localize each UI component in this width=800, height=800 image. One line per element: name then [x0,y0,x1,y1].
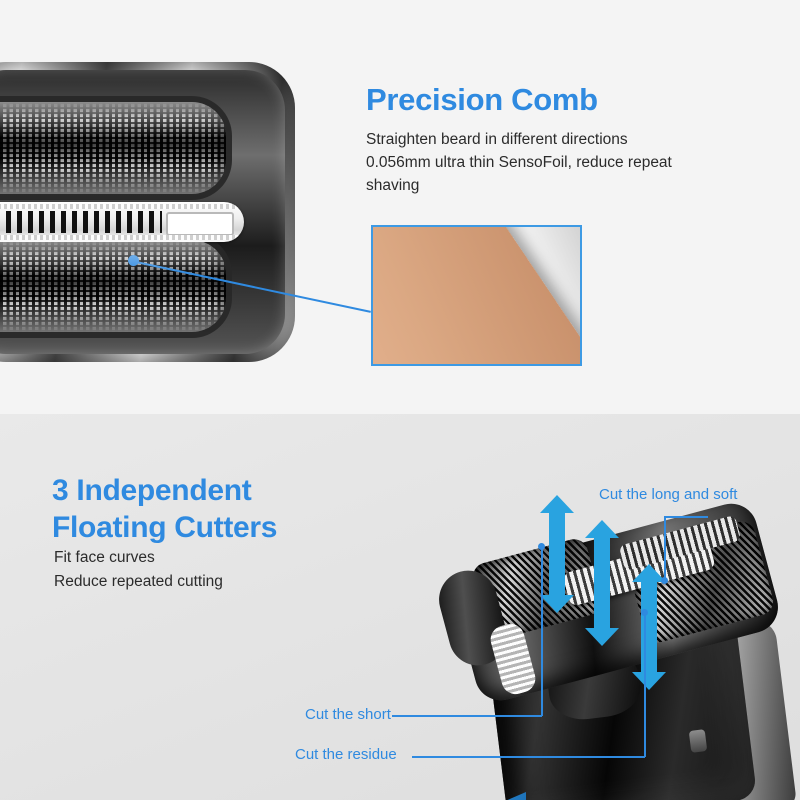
callout-label-short: Cut the short [305,706,391,723]
precision-comb-element [0,202,244,242]
shaver-power-button [689,729,708,753]
comb-slot [166,212,234,236]
callout-dot-long-soft [661,577,668,584]
description-line-3: shaving [366,174,766,197]
description-line-1: Fit face curves [54,546,223,570]
comb-teeth [0,211,162,233]
section-title-line-1: 3 Independent [52,472,277,509]
callout-label-long-and-soft: Cut the long and soft [599,486,737,503]
callout-dot-residue [641,609,648,616]
callout-leader-residue-horizontal [412,756,645,758]
callout-leader-short-horizontal [392,715,542,717]
callout-leader-residue-vertical [644,612,646,757]
description-line-2: 0.056mm ultra thin SensoFoil, reduce rep… [366,151,766,174]
comb-edge-top [0,204,244,209]
description-line-1: Straighten beard in different directions [366,128,766,151]
floating-motion-arrow-3 [632,564,666,690]
upper-foil-mesh [0,102,226,194]
callout-leader-long-soft-horizontal [664,516,708,518]
shaver-product-image [438,528,800,800]
callout-dot-short [538,543,545,550]
description-line-2: Reduce repeated cutting [54,570,223,594]
shaver-head-macro-image [0,62,295,362]
floating-cutters-description: Fit face curves Reduce repeated cutting [54,546,223,594]
section-title-line-2: Floating Cutters [52,509,277,546]
precision-comb-description: Straighten beard in different directions… [366,128,766,197]
page-title: Precision Comb [366,82,598,118]
precision-comb-section: Precision Comb Straighten beard in diffe… [0,0,800,414]
callout-label-residue: Cut the residue [295,746,397,763]
section-title: 3 Independent Floating Cutters [52,472,277,546]
lower-foil-mesh [0,240,226,332]
floating-cutters-section: 3 Independent Floating Cutters Fit face … [0,414,800,800]
comb-closeup-inset-image [371,225,582,366]
callout-leader-long-soft-vertical [664,516,666,580]
product-feature-graphic: Precision Comb Straighten beard in diffe… [0,0,800,800]
floating-motion-arrow-2 [585,520,619,646]
floating-motion-arrow-1 [540,495,574,613]
callout-leader-short-vertical [541,546,543,716]
